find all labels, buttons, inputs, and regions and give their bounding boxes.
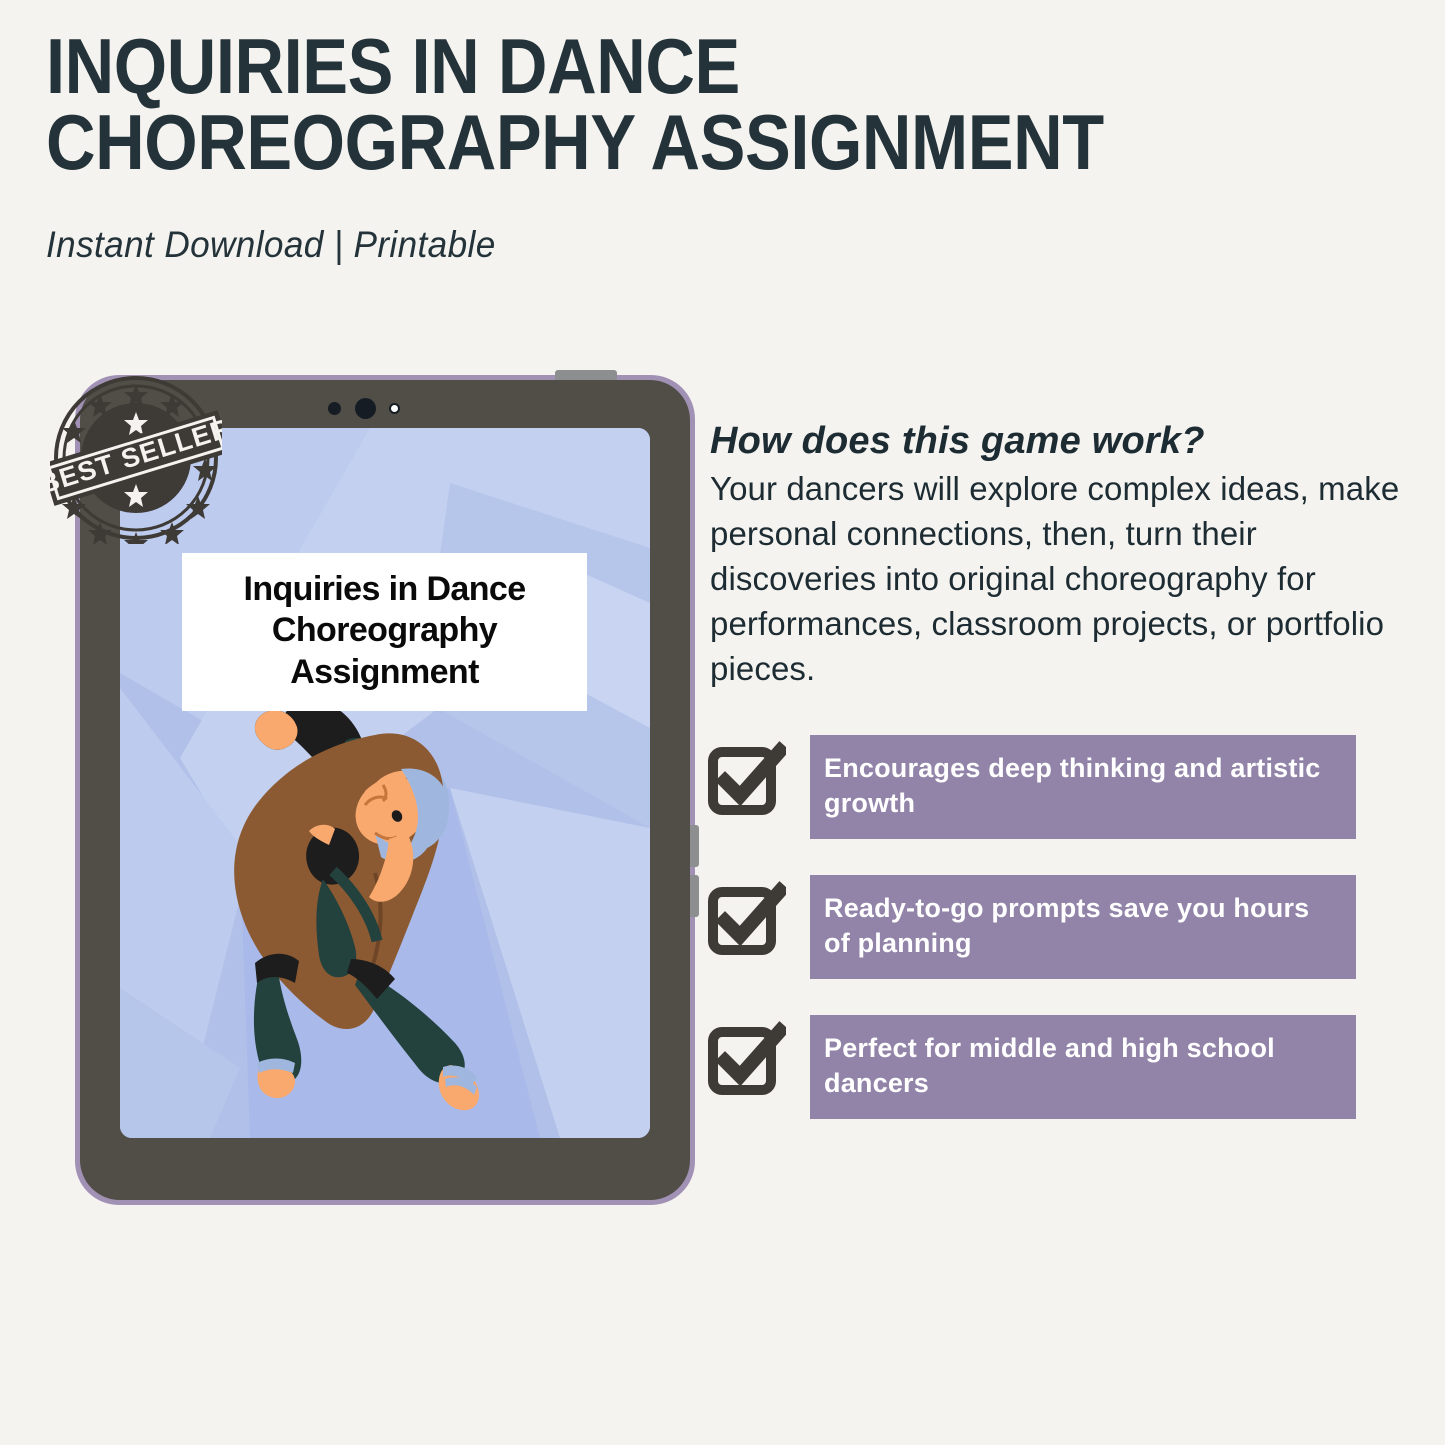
checkbox-checked-icon[interactable]	[708, 881, 786, 959]
best-seller-stamp-icon: BEST SELLER	[50, 372, 222, 544]
benefit-bar: Perfect for middle and high school dance…	[810, 1015, 1356, 1119]
page-title: INQUIRIES IN DANCE CHOREOGRAPHY ASSIGNME…	[46, 28, 1225, 181]
benefit-text: Ready-to-go prompts save you hours of pl…	[824, 891, 1342, 960]
benefit-bar: Encourages deep thinking and artistic gr…	[810, 735, 1356, 839]
checkbox-checked-icon[interactable]	[708, 741, 786, 819]
header: INQUIRIES IN DANCE CHOREOGRAPHY ASSIGNME…	[46, 28, 1386, 181]
description-block: How does this game work? Your dancers wi…	[710, 420, 1400, 691]
checkbox-checked-icon[interactable]	[708, 1021, 786, 1099]
list-item: Encourages deep thinking and artistic gr…	[708, 735, 1388, 855]
indicator-led-icon	[389, 403, 400, 414]
list-item: Ready-to-go prompts save you hours of pl…	[708, 875, 1388, 995]
sensor-dot-icon	[328, 402, 341, 415]
benefit-bar: Ready-to-go prompts save you hours of pl…	[810, 875, 1356, 979]
screen-title-line-2: Choreography Assignment	[192, 610, 577, 693]
screen-title-line-1: Inquiries in Dance	[192, 569, 577, 610]
screen-title-card: Inquiries in Dance Choreography Assignme…	[182, 553, 587, 711]
list-item: Perfect for middle and high school dance…	[708, 1015, 1388, 1135]
dancer-illustration	[225, 683, 545, 1123]
how-it-works-body: Your dancers will explore complex ideas,…	[710, 467, 1400, 691]
volume-up-button[interactable]	[690, 825, 699, 867]
how-it-works-heading: How does this game work?	[710, 420, 1400, 463]
power-button[interactable]	[555, 370, 617, 380]
benefit-text: Encourages deep thinking and artistic gr…	[824, 751, 1342, 820]
benefit-text: Perfect for middle and high school dance…	[824, 1031, 1342, 1100]
page-subtitle: Instant Download | Printable	[46, 224, 496, 266]
camera-lens-icon	[355, 398, 376, 419]
volume-down-button[interactable]	[690, 875, 699, 917]
benefits-checklist: Encourages deep thinking and artistic gr…	[708, 735, 1388, 1155]
